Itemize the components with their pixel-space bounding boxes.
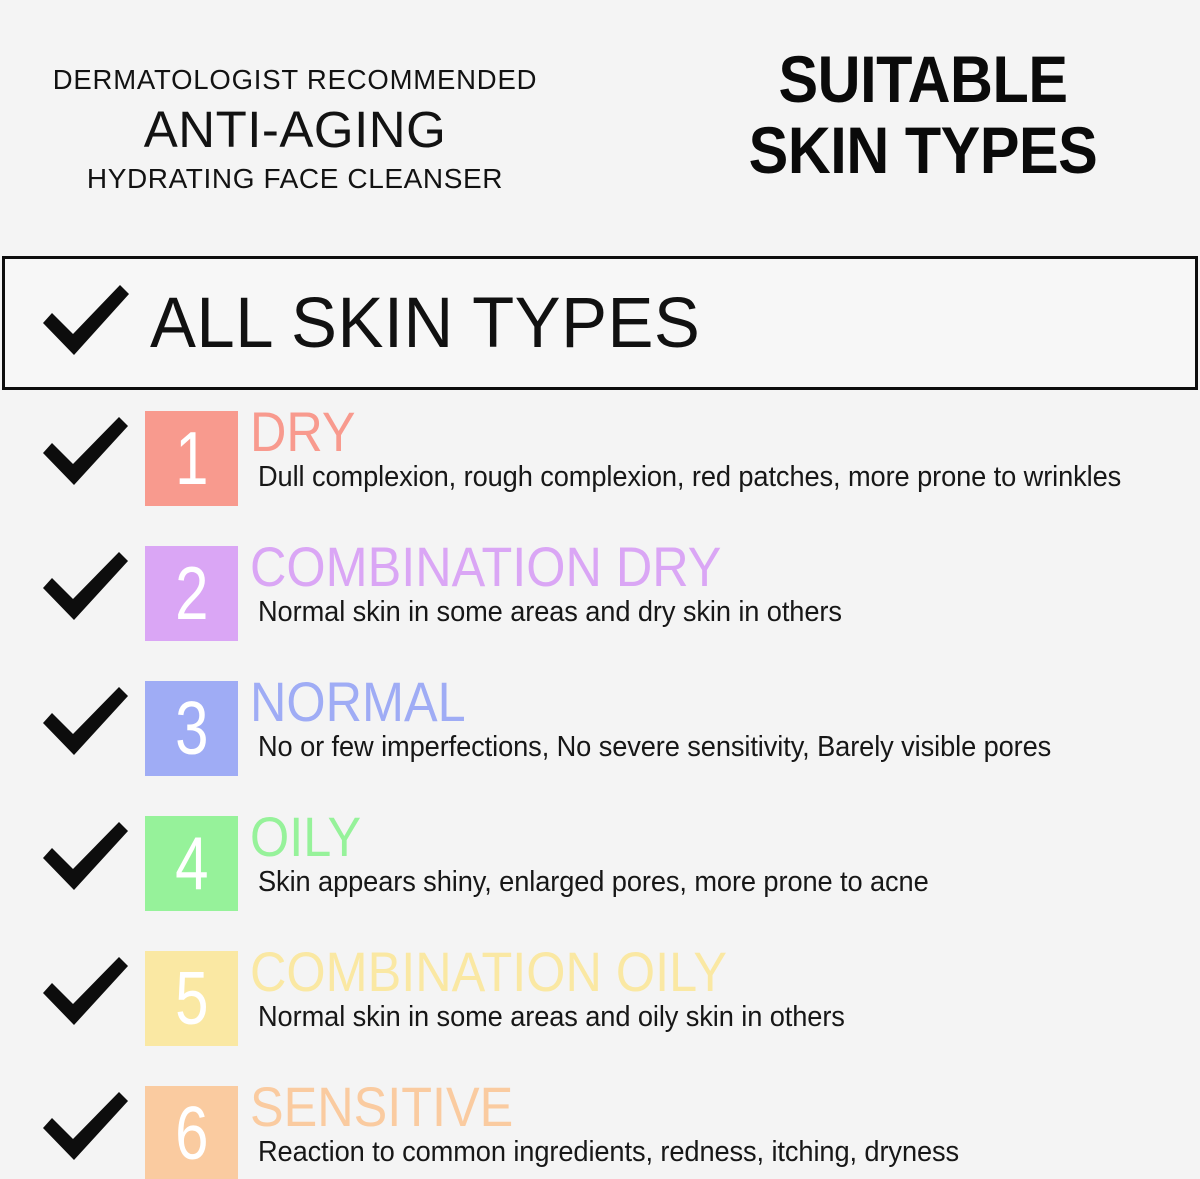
- brand-eyebrow: DERMATOLOGIST RECOMMENDED: [0, 64, 590, 96]
- row-number: 4: [175, 826, 208, 901]
- check-icon: [40, 685, 132, 759]
- row-title: COMBINATION DRY: [250, 539, 721, 595]
- suitable-heading-line-1: SUITABLE: [730, 44, 1117, 115]
- row-number: 5: [175, 961, 208, 1036]
- list-item: 4 OILY Skin appears shiny, enlarged pore…: [0, 795, 1200, 930]
- brand-product-name: ANTI-AGING: [0, 100, 590, 160]
- list-item: 1 DRY Dull complexion, rough complexion,…: [0, 390, 1200, 525]
- row-title: DRY: [250, 404, 356, 460]
- suitable-heading-line-2: SKIN TYPES: [730, 115, 1117, 186]
- row-description: Normal skin in some areas and dry skin i…: [258, 597, 842, 628]
- header-band: DERMATOLOGIST RECOMMENDED ANTI-AGING HYD…: [0, 0, 1200, 256]
- row-color-swatch: 2: [145, 546, 238, 641]
- check-icon: [38, 282, 134, 365]
- row-description: Normal skin in some areas and oily skin …: [258, 1002, 845, 1033]
- skin-type-list: 1 DRY Dull complexion, rough complexion,…: [0, 390, 1200, 1169]
- brand-block: DERMATOLOGIST RECOMMENDED ANTI-AGING HYD…: [0, 64, 590, 195]
- check-icon: [40, 415, 132, 489]
- brand-product-subtitle: HYDRATING FACE CLEANSER: [0, 163, 590, 195]
- list-item: 5 COMBINATION OILY Normal skin in some a…: [0, 930, 1200, 1065]
- check-icon: [40, 820, 132, 894]
- suitable-skin-types-heading: SUITABLE SKIN TYPES: [708, 44, 1138, 185]
- list-item: 3 NORMAL No or few imperfections, No sev…: [0, 660, 1200, 795]
- row-title: NORMAL: [250, 674, 466, 730]
- all-skin-types-label: ALL SKIN TYPES: [150, 283, 700, 364]
- row-title: COMBINATION OILY: [250, 944, 727, 1000]
- row-description: Skin appears shiny, enlarged pores, more…: [258, 867, 929, 898]
- row-number: 2: [175, 556, 208, 631]
- row-number: 6: [175, 1096, 208, 1171]
- row-number: 1: [175, 421, 208, 496]
- infographic-page: DERMATOLOGIST RECOMMENDED ANTI-AGING HYD…: [0, 0, 1200, 1179]
- row-color-swatch: 3: [145, 681, 238, 776]
- row-color-swatch: 6: [145, 1086, 238, 1179]
- row-title: OILY: [250, 809, 361, 865]
- all-skin-types-banner: ALL SKIN TYPES: [2, 256, 1198, 390]
- check-icon: [40, 550, 132, 624]
- row-title: SENSITIVE: [250, 1079, 513, 1135]
- list-item: 6 SENSITIVE Reaction to common ingredien…: [0, 1065, 1200, 1169]
- row-color-swatch: 5: [145, 951, 238, 1046]
- check-icon: [40, 1090, 132, 1164]
- list-item: 2 COMBINATION DRY Normal skin in some ar…: [0, 525, 1200, 660]
- row-description: Reaction to common ingredients, redness,…: [258, 1137, 959, 1168]
- row-color-swatch: 1: [145, 411, 238, 506]
- row-color-swatch: 4: [145, 816, 238, 911]
- check-icon: [40, 955, 132, 1029]
- row-description: No or few imperfections, No severe sensi…: [258, 732, 1051, 763]
- row-number: 3: [175, 691, 208, 766]
- row-description: Dull complexion, rough complexion, red p…: [258, 462, 1121, 493]
